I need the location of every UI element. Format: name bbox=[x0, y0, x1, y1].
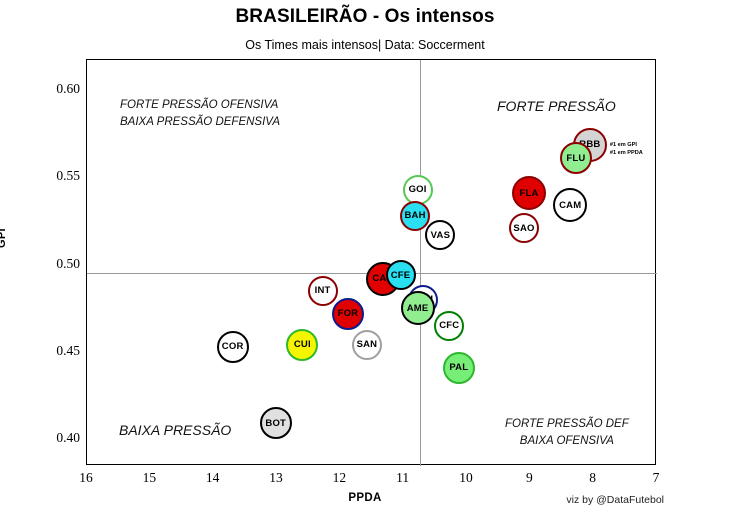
data-point-label: PAL bbox=[449, 362, 468, 373]
data-point-label: SAO bbox=[513, 223, 534, 234]
chart-subtitle: Os Times mais intensos| Data: Soccerment bbox=[0, 38, 730, 52]
data-point-label: FLA bbox=[520, 188, 539, 199]
data-point-label: COR bbox=[222, 341, 244, 352]
data-point-label: GOI bbox=[409, 184, 427, 195]
x-tick-label: 10 bbox=[446, 470, 486, 486]
quadrant-note-bottom-right: FORTE PRESSÃO DEF BAIXA OFENSIVA bbox=[505, 416, 629, 449]
data-point-label: SAN bbox=[357, 339, 378, 350]
data-point-san[interactable]: SAN bbox=[352, 330, 382, 360]
y-tick-label: 0.45 bbox=[28, 343, 80, 359]
data-point-label: CFE bbox=[391, 270, 411, 281]
credit-text: viz by @DataFutebol bbox=[566, 494, 664, 506]
y-tick-label: 0.40 bbox=[28, 430, 80, 446]
x-tick-label: 11 bbox=[383, 470, 423, 486]
data-point-cam[interactable]: CAM bbox=[553, 188, 587, 222]
data-point-fla[interactable]: FLA bbox=[512, 176, 546, 210]
y-axis-ticks: 0.400.450.500.550.60 bbox=[22, 59, 80, 465]
data-point-label: CUI bbox=[294, 339, 311, 350]
data-point-label: AME bbox=[407, 303, 429, 314]
x-tick-label: 9 bbox=[509, 470, 549, 486]
quadrant-note-top-right: FORTE PRESSÃO bbox=[497, 96, 616, 116]
quadrant-note-bottom-left: BAIXA PRESSÃO bbox=[119, 420, 231, 440]
data-point-vas[interactable]: VAS bbox=[425, 220, 455, 250]
data-point-cfe[interactable]: CFE bbox=[386, 260, 416, 290]
x-tick-label: 8 bbox=[573, 470, 613, 486]
page-title: BRASILEIRÃO - Os intensos bbox=[0, 6, 730, 28]
data-point-sao[interactable]: SAO bbox=[509, 213, 539, 243]
data-point-label: CAM bbox=[559, 200, 581, 211]
plot-area: FORTE PRESSÃO OFENSIVA BAIXA PRESSÃO DEF… bbox=[86, 59, 656, 465]
x-tick-label: 7 bbox=[636, 470, 676, 486]
data-point-ame[interactable]: AME bbox=[401, 291, 435, 325]
data-point-cfc[interactable]: CFC bbox=[434, 311, 464, 341]
y-tick-label: 0.60 bbox=[28, 81, 80, 97]
y-tick-label: 0.55 bbox=[28, 168, 80, 184]
data-point-label: INT bbox=[315, 285, 331, 296]
x-tick-label: 12 bbox=[319, 470, 359, 486]
data-point-bah[interactable]: BAH bbox=[400, 201, 430, 231]
data-point-bot[interactable]: BOT bbox=[260, 407, 292, 439]
data-point-cui[interactable]: CUI bbox=[286, 329, 318, 361]
x-tick-label: 15 bbox=[129, 470, 169, 486]
data-point-label: BOT bbox=[265, 418, 286, 429]
data-point-label: FLU bbox=[566, 153, 585, 164]
scatter-chart: BRASILEIRÃO - Os intensos Os Times mais … bbox=[0, 0, 730, 521]
reference-line-vertical bbox=[420, 60, 421, 466]
data-point-label: VAS bbox=[431, 230, 450, 241]
data-point-flu[interactable]: FLU bbox=[560, 142, 592, 174]
data-point-int[interactable]: INT bbox=[308, 276, 338, 306]
data-point-cor[interactable]: COR bbox=[217, 331, 249, 363]
x-tick-label: 14 bbox=[193, 470, 233, 486]
data-point-for[interactable]: FOR bbox=[332, 298, 364, 330]
rbb-annotation-callout: #1 em GPI #1 em PPDA bbox=[610, 141, 643, 158]
data-point-label: CFC bbox=[439, 320, 459, 331]
y-tick-label: 0.50 bbox=[28, 256, 80, 272]
data-point-pal[interactable]: PAL bbox=[443, 352, 475, 384]
y-axis-label: GPI bbox=[0, 228, 8, 248]
x-tick-label: 16 bbox=[66, 470, 106, 486]
data-point-label: BAH bbox=[404, 210, 425, 221]
data-point-label: FOR bbox=[338, 308, 359, 319]
x-axis-ticks: 16151413121110987 bbox=[86, 470, 656, 490]
x-tick-label: 13 bbox=[256, 470, 296, 486]
quadrant-note-top-left: FORTE PRESSÃO OFENSIVA BAIXA PRESSÃO DEF… bbox=[120, 97, 280, 130]
